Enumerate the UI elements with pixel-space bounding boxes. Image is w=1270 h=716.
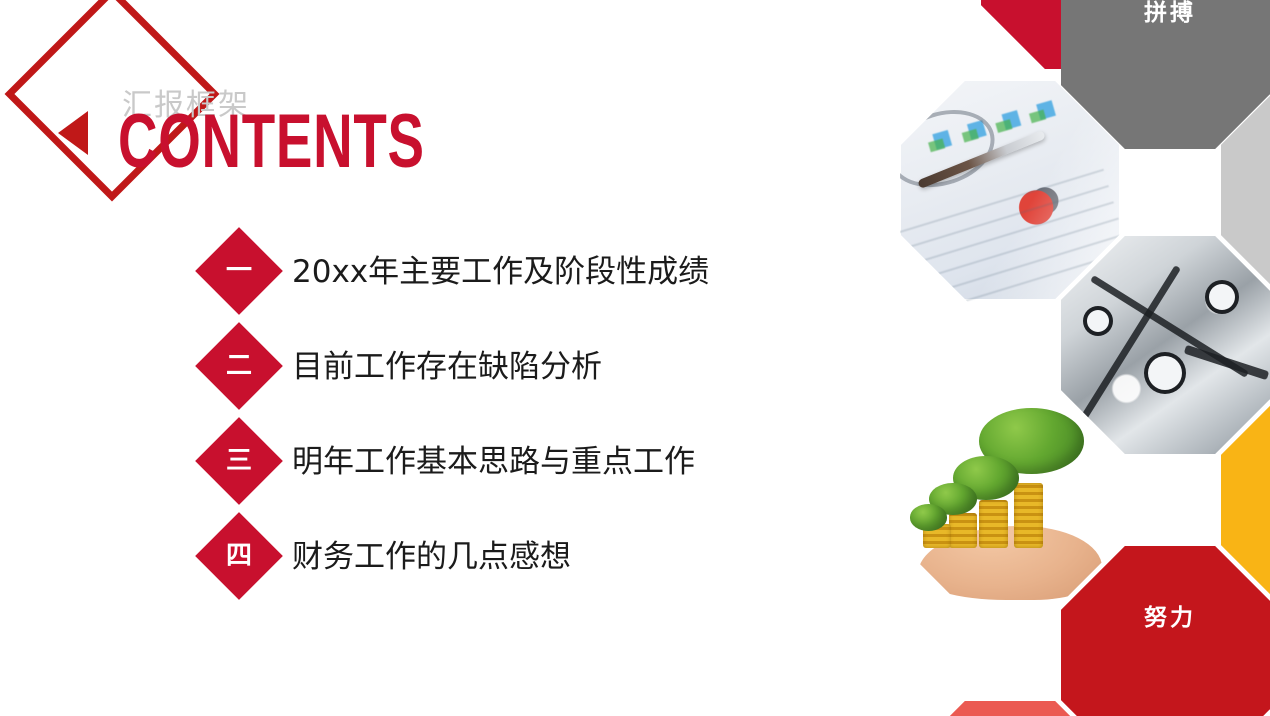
- puzzle-photo: [1061, 236, 1270, 454]
- list-item-label: 20xx年主要工作及阶段性成绩: [292, 246, 709, 291]
- list-item-number: 二: [208, 335, 270, 397]
- list-item-label: 目前工作存在缺陷分析: [292, 341, 602, 386]
- list-item-number: 四: [208, 525, 270, 587]
- list-item[interactable]: 一 20xx年主要工作及阶段性成绩: [0, 232, 900, 327]
- finance-photo: [901, 81, 1119, 299]
- list-item-number: 一: [208, 240, 270, 302]
- list-item-number: 三: [208, 430, 270, 492]
- page-title: CONTENTS: [118, 104, 425, 180]
- list-item-label: 明年工作基本思路与重点工作: [292, 436, 695, 481]
- slide-canvas: 汇报框架 CONTENTS 一 20xx年主要工作及阶段性成绩 二 目前工作存在…: [0, 0, 1270, 716]
- left-arrow-icon: [58, 111, 88, 155]
- heading-block: 汇报框架 CONTENTS: [0, 0, 640, 240]
- list-item[interactable]: 三 明年工作基本思路与重点工作: [0, 422, 900, 517]
- diamond-collage: 拼搏: [900, 0, 1270, 716]
- contents-list: 一 20xx年主要工作及阶段性成绩 二 目前工作存在缺陷分析 三 明年工作基本思…: [0, 232, 900, 612]
- money-tree-photo: [901, 391, 1119, 609]
- list-item[interactable]: 四 财务工作的几点感想: [0, 517, 900, 612]
- list-item-label: 财务工作的几点感想: [292, 531, 571, 576]
- list-item[interactable]: 二 目前工作存在缺陷分析: [0, 327, 900, 422]
